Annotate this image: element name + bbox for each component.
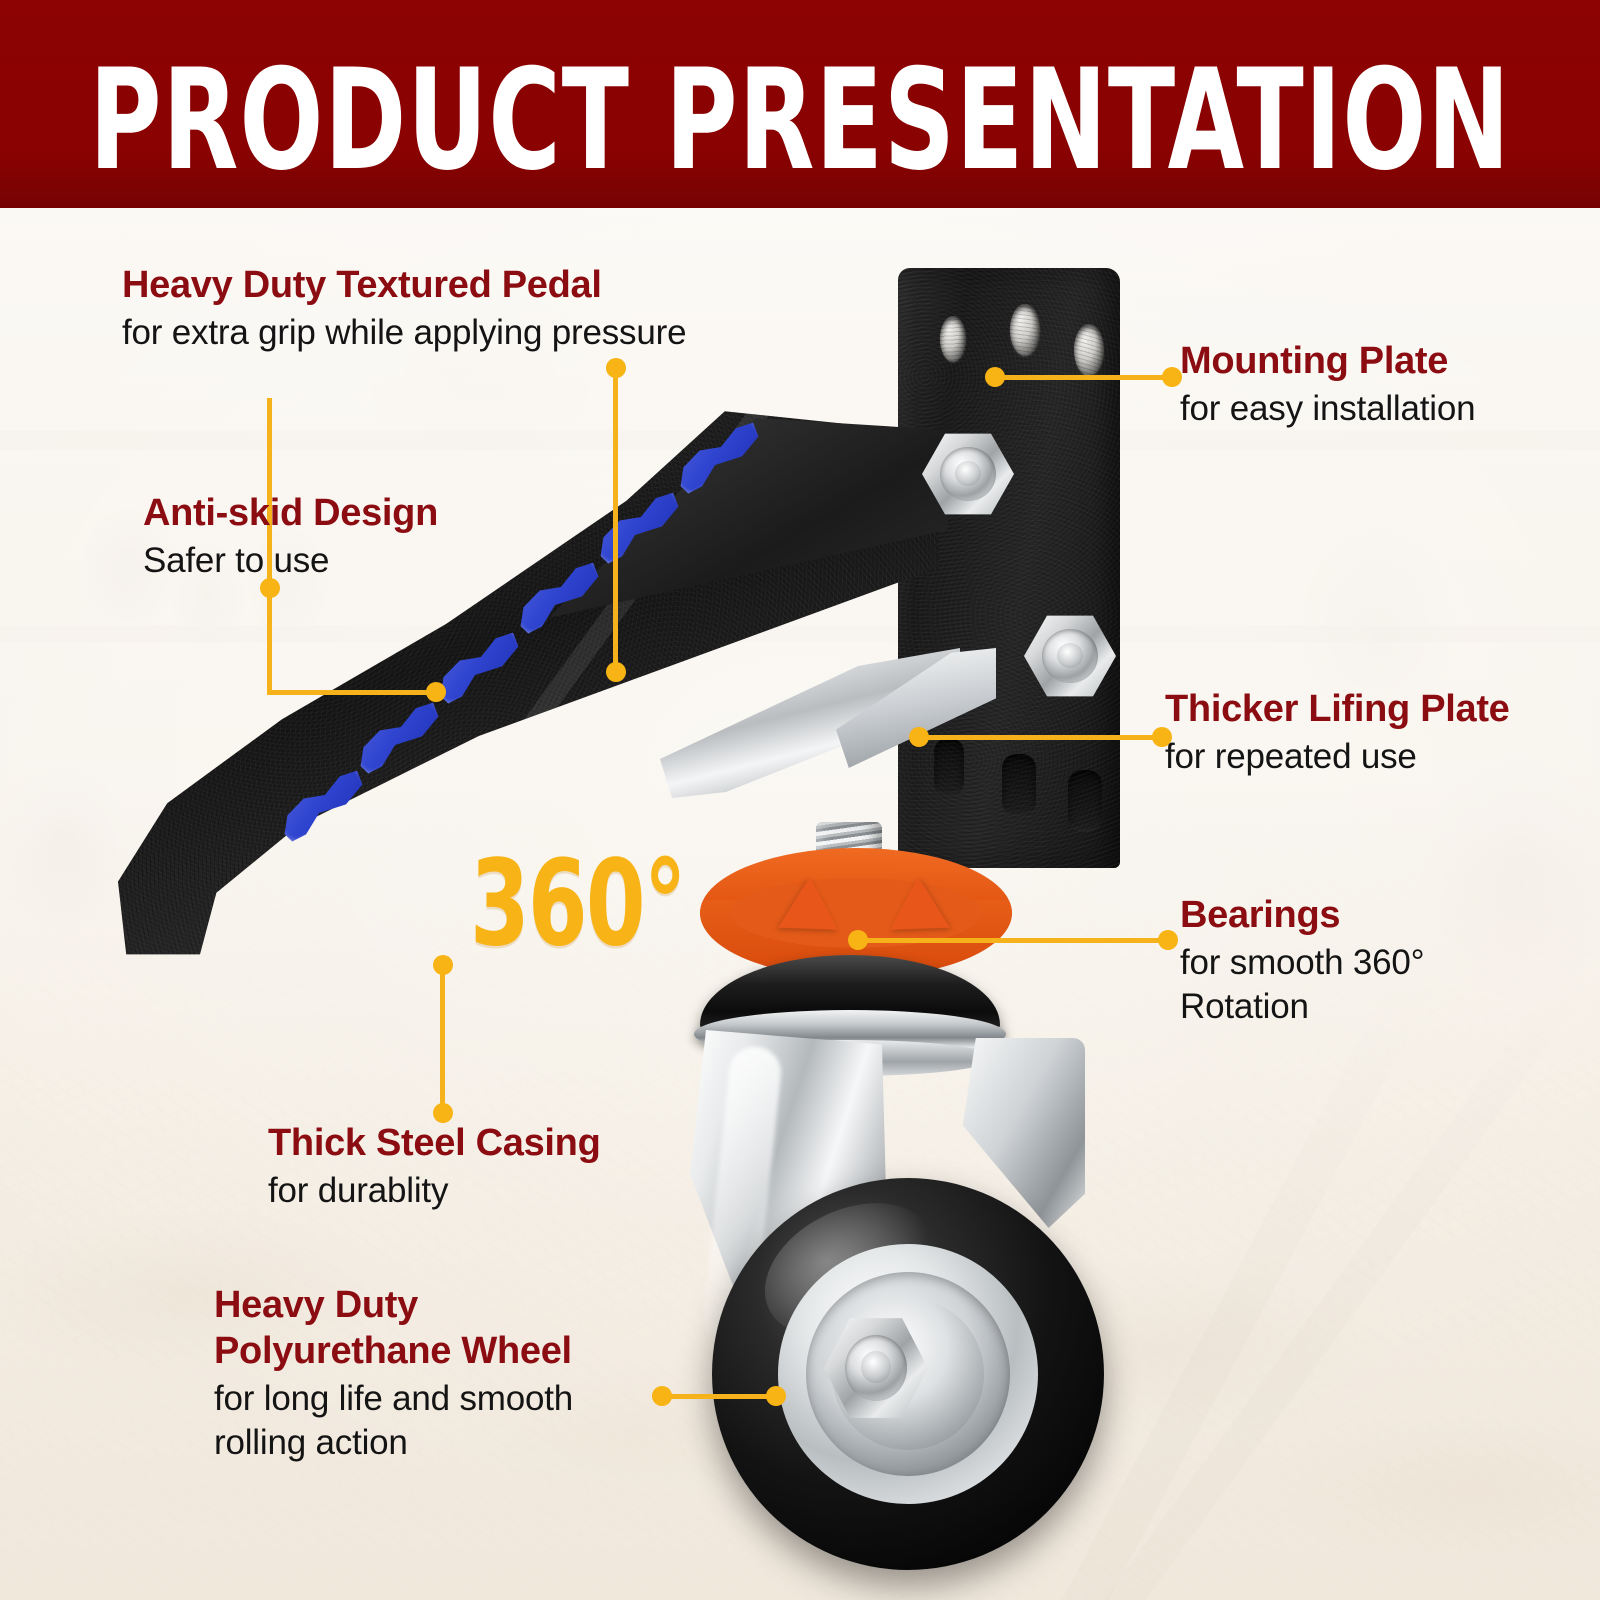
leader-line-wheel [664,1394,776,1399]
callout-subtitle-antiskid: Safer to use [143,539,438,583]
callout-mounting-plate: Mounting Plate for easy installation [1180,338,1475,431]
leader-dot-bearings-text [1158,930,1178,950]
leader-line-antiskid-horizontal [267,690,435,695]
callout-subtitle-mounting-plate: for easy installation [1180,387,1475,431]
leader-dot-antiskid-target [426,682,446,702]
callout-title-pedal: Heavy Duty Textured Pedal [122,262,686,308]
callout-title-steel-casing: Thick Steel Casing [268,1120,600,1166]
callout-subtitle-lifing-plate: for repeated use [1165,735,1510,779]
leader-line-pedal [613,366,618,678]
infographic-canvas: PRODUCT PRESENTATION [0,0,1600,1600]
callout-heavy-duty-polyurethane-wheel: Heavy Duty Polyurethane Wheel for long l… [214,1282,573,1465]
leader-dot-bearings-target [848,930,868,950]
leader-line-steel-casing [440,962,445,1112]
callout-title-lifing-plate: Thicker Lifing Plate [1165,686,1510,732]
leader-dot-wheel-text [652,1386,672,1406]
leader-dot-lifting-target [909,727,929,747]
leader-line-lifting-plate [926,735,1164,740]
leader-dot-casing-target [433,955,453,975]
callout-heavy-duty-textured-pedal: Heavy Duty Textured Pedal for extra grip… [122,262,686,355]
leader-line-mounting-plate [1002,375,1174,380]
callout-thick-steel-casing: Thick Steel Casing for durablity [268,1120,600,1213]
leader-dot-wheel-target [766,1386,786,1406]
callout-subtitle-steel-casing: for durablity [268,1169,600,1213]
leader-dot-pedal-text [606,358,626,378]
callout-anti-skid-design: Anti-skid Design Safer to use [143,490,438,583]
callout-subtitle-pedal: for extra grip while applying pressure [122,311,686,355]
callout-title-bearings: Bearings [1180,892,1424,938]
callout-title-wheel: Heavy Duty Polyurethane Wheel [214,1282,573,1374]
callout-subtitle-wheel: for long life and smooth rolling action [214,1377,573,1465]
leader-dot-mounting-target [985,367,1005,387]
leader-dot-pedal-target [606,662,626,682]
leader-line-bearings [862,938,1170,943]
callout-thicker-lifing-plate: Thicker Lifing Plate for repeated use [1165,686,1510,779]
callout-bearings: Bearings for smooth 360° Rotation [1180,892,1424,1029]
callout-subtitle-bearings: for smooth 360° Rotation [1180,941,1424,1029]
callout-title-mounting-plate: Mounting Plate [1180,338,1475,384]
callout-title-antiskid: Anti-skid Design [143,490,438,536]
leader-dot-mounting-text [1162,367,1182,387]
